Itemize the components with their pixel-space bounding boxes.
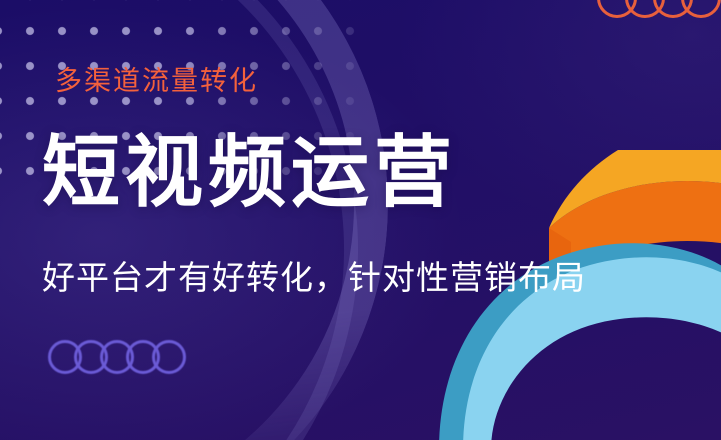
eyebrow-text: 多渠道流量转化 [55, 68, 258, 95]
tagline-text: 好平台才有好转化，针对性营销布局 [42, 258, 586, 298]
headline-text: 短视频运营 [42, 134, 457, 212]
promo-banner: 多渠道流量转化 短视频运营 好平台才有好转化，针对性营销布局 [0, 0, 721, 440]
text-content: 多渠道流量转化 短视频运营 好平台才有好转化，针对性营销布局 [0, 0, 721, 440]
